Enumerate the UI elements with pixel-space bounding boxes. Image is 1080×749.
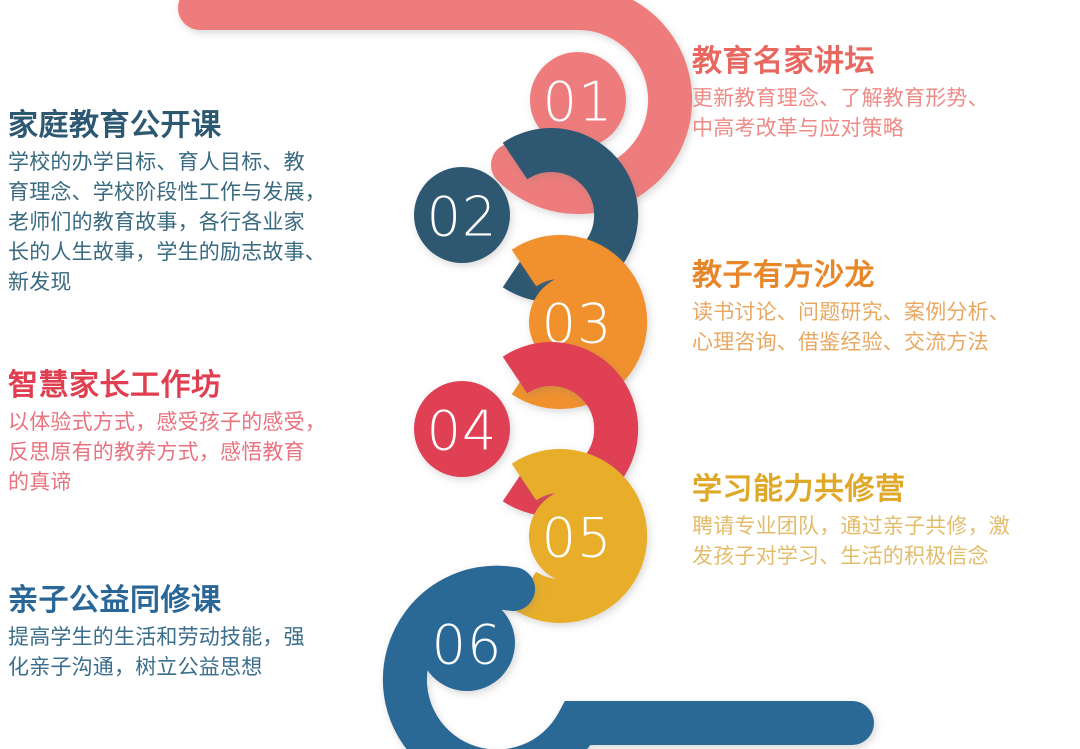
item-03-description: 读书讨论、问题研究、案例分析、 心理咨询、借鉴经验、交流方法 xyxy=(692,298,1072,358)
item-02-title: 家庭教育公开课 xyxy=(8,108,380,143)
item-02-desc-line: 育理念、学校阶段性工作与发展， xyxy=(8,181,326,204)
node-04-ring-arc xyxy=(515,364,616,494)
node-04-number: 04 xyxy=(427,400,498,463)
item-06-title: 亲子公益同修课 xyxy=(8,583,380,618)
node-02-ring-arc xyxy=(515,150,616,280)
item-01-title: 教育名家讲坛 xyxy=(692,44,1072,79)
item-02-text-block: 家庭教育公开课 学校的办学目标、育人目标、教 育理念、学校阶段性工作与发展， 老… xyxy=(8,108,380,297)
node-04-graphic xyxy=(414,364,616,494)
node-02-number: 02 xyxy=(427,186,498,249)
node-03-graphic xyxy=(524,257,625,387)
item-06-text-block: 亲子公益同修课 提高学生的生活和劳动技能，强 化亲子沟通，树立公益思想 xyxy=(8,583,380,683)
item-03-text-block: 教子有方沙龙 读书讨论、问题研究、案例分析、 心理咨询、借鉴经验、交流方法 xyxy=(692,258,1072,358)
node-06-number: 06 xyxy=(432,614,503,677)
node-05-graphic xyxy=(524,471,625,601)
item-01-desc-line: 中高考改革与应对策略 xyxy=(692,117,904,140)
item-06-description: 提高学生的生活和劳动技能，强 化亲子沟通，树立公益思想 xyxy=(8,623,380,683)
item-03-title: 教子有方沙龙 xyxy=(692,258,1072,293)
node-06-ring-arc xyxy=(405,588,852,749)
item-02-desc-line: 老师们的教育故事，各行各业家 xyxy=(8,211,305,234)
node-03-number: 03 xyxy=(542,293,613,356)
item-04-desc-line: 的真谛 xyxy=(8,471,72,494)
node-06-graphic xyxy=(405,588,852,749)
item-04-title: 智慧家长工作坊 xyxy=(8,368,380,403)
item-03-desc-line: 读书讨论、问题研究、案例分析、 xyxy=(692,301,1010,324)
item-05-title: 学习能力共修营 xyxy=(692,472,1072,507)
item-01-desc-line: 更新教育理念、了解教育形势、 xyxy=(692,87,989,110)
item-02-desc-line: 长的人生故事，学生的励志故事、 xyxy=(8,241,326,264)
item-02-desc-line: 学校的办学目标、育人目标、教 xyxy=(8,151,305,174)
item-04-description: 以体验式方式，感受孩子的感受， 反思原有的教养方式，感悟教育 的真谛 xyxy=(8,408,380,497)
node-03-inner-circle xyxy=(529,274,625,370)
item-02-description: 学校的办学目标、育人目标、教 育理念、学校阶段性工作与发展， 老师们的教育故事，… xyxy=(8,148,380,297)
item-04-text-block: 智慧家长工作坊 以体验式方式，感受孩子的感受， 反思原有的教养方式，感悟教育 的… xyxy=(8,368,380,498)
item-01-text-block: 教育名家讲坛 更新教育理念、了解教育形势、 中高考改革与应对策略 xyxy=(692,44,1072,144)
item-05-text-block: 学习能力共修营 聘请专业团队，通过亲子共修，激 发孩子对学习、生活的积极信念 xyxy=(692,472,1072,572)
item-04-desc-line: 反思原有的教养方式，感悟教育 xyxy=(8,441,305,464)
node-02-graphic xyxy=(414,150,616,280)
node-05-number: 05 xyxy=(542,507,613,570)
item-06-desc-line: 化亲子沟通，树立公益思想 xyxy=(8,656,262,679)
node-01-number: 01 xyxy=(543,71,614,134)
item-06-desc-line: 提高学生的生活和劳动技能，强 xyxy=(8,626,305,649)
item-05-desc-line: 聘请专业团队，通过亲子共修，激 xyxy=(692,515,1010,538)
item-05-description: 聘请专业团队，通过亲子共修，激 发孩子对学习、生活的积极信念 xyxy=(692,512,1072,572)
node-06-inner-circle xyxy=(419,595,515,691)
node-04-inner-circle xyxy=(414,381,510,477)
node-05-inner-circle xyxy=(529,488,625,584)
item-01-description: 更新教育理念、了解教育形势、 中高考改革与应对策略 xyxy=(692,84,1072,144)
node-05-ring-arc xyxy=(524,471,625,601)
node-03-ring-arc xyxy=(524,257,625,387)
node-02-inner-circle xyxy=(414,167,510,263)
item-05-desc-line: 发孩子对学习、生活的积极信念 xyxy=(692,545,989,568)
infographic-root: 01 02 03 04 05 06 xyxy=(0,0,1080,749)
item-04-desc-line: 以体验式方式，感受孩子的感受， xyxy=(8,411,326,434)
node-01-inner-circle xyxy=(530,52,626,148)
item-03-desc-line: 心理咨询、借鉴经验、交流方法 xyxy=(692,331,989,354)
item-02-desc-line: 新发现 xyxy=(8,271,72,294)
